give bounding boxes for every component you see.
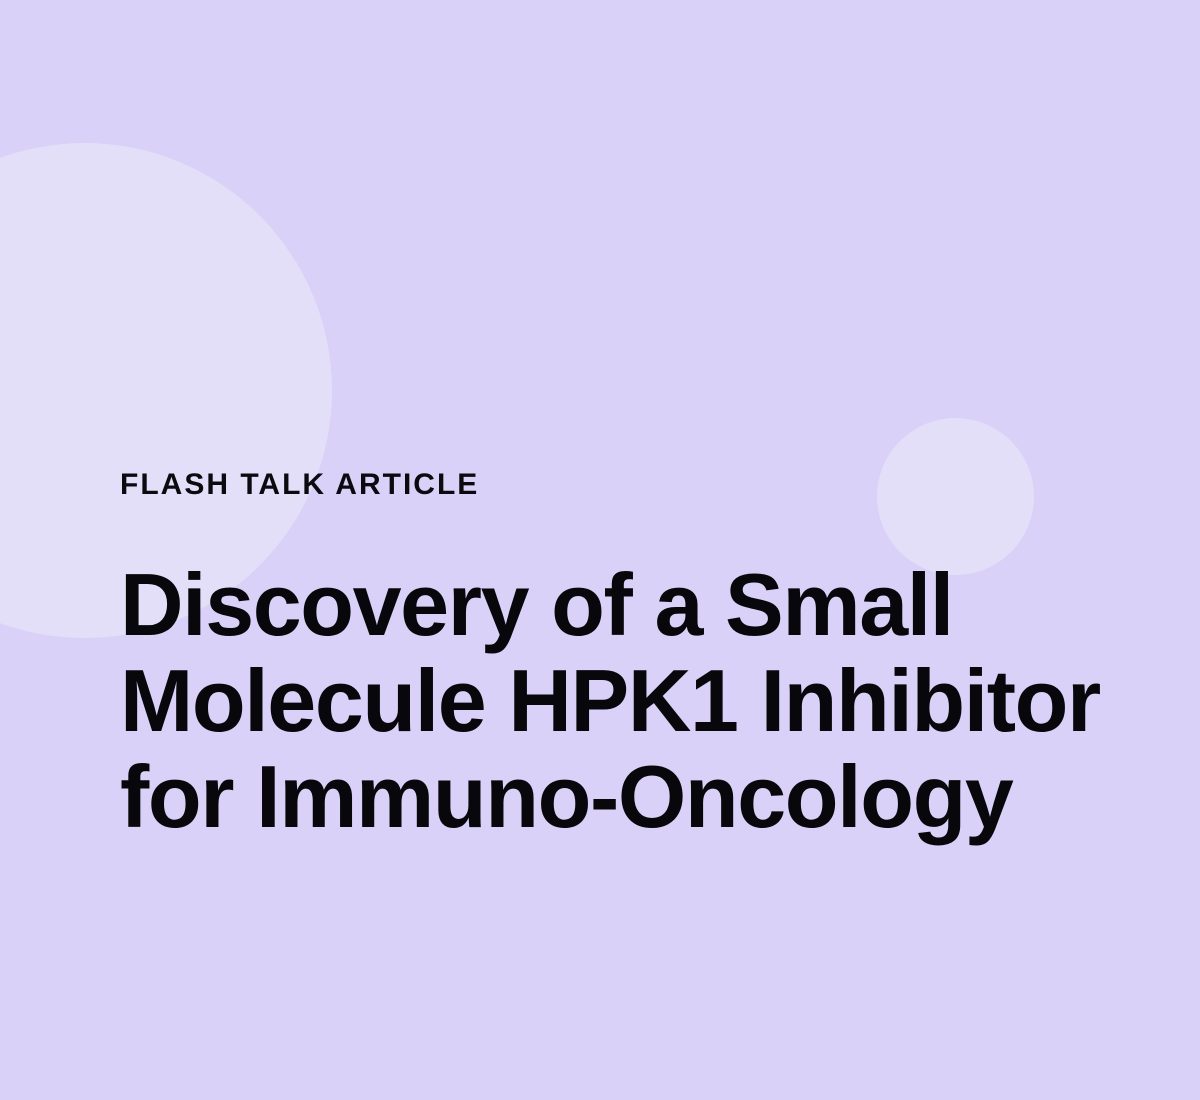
page-title: Discovery of a Small Molecule HPK1 Inhib… <box>120 508 1130 845</box>
title-line-3: for Immuno-Oncology <box>120 749 1130 845</box>
title-line-1: Discovery of a Small <box>120 557 1130 653</box>
card-content: FLASH TALK ARTICLE Discovery of a Small … <box>120 462 1130 845</box>
title-line-2: Molecule HPK1 Inhibitor <box>120 653 1130 749</box>
flash-talk-article-card: FLASH TALK ARTICLE Discovery of a Small … <box>0 0 1200 1100</box>
eyebrow-label: FLASH TALK ARTICLE <box>120 462 1130 508</box>
